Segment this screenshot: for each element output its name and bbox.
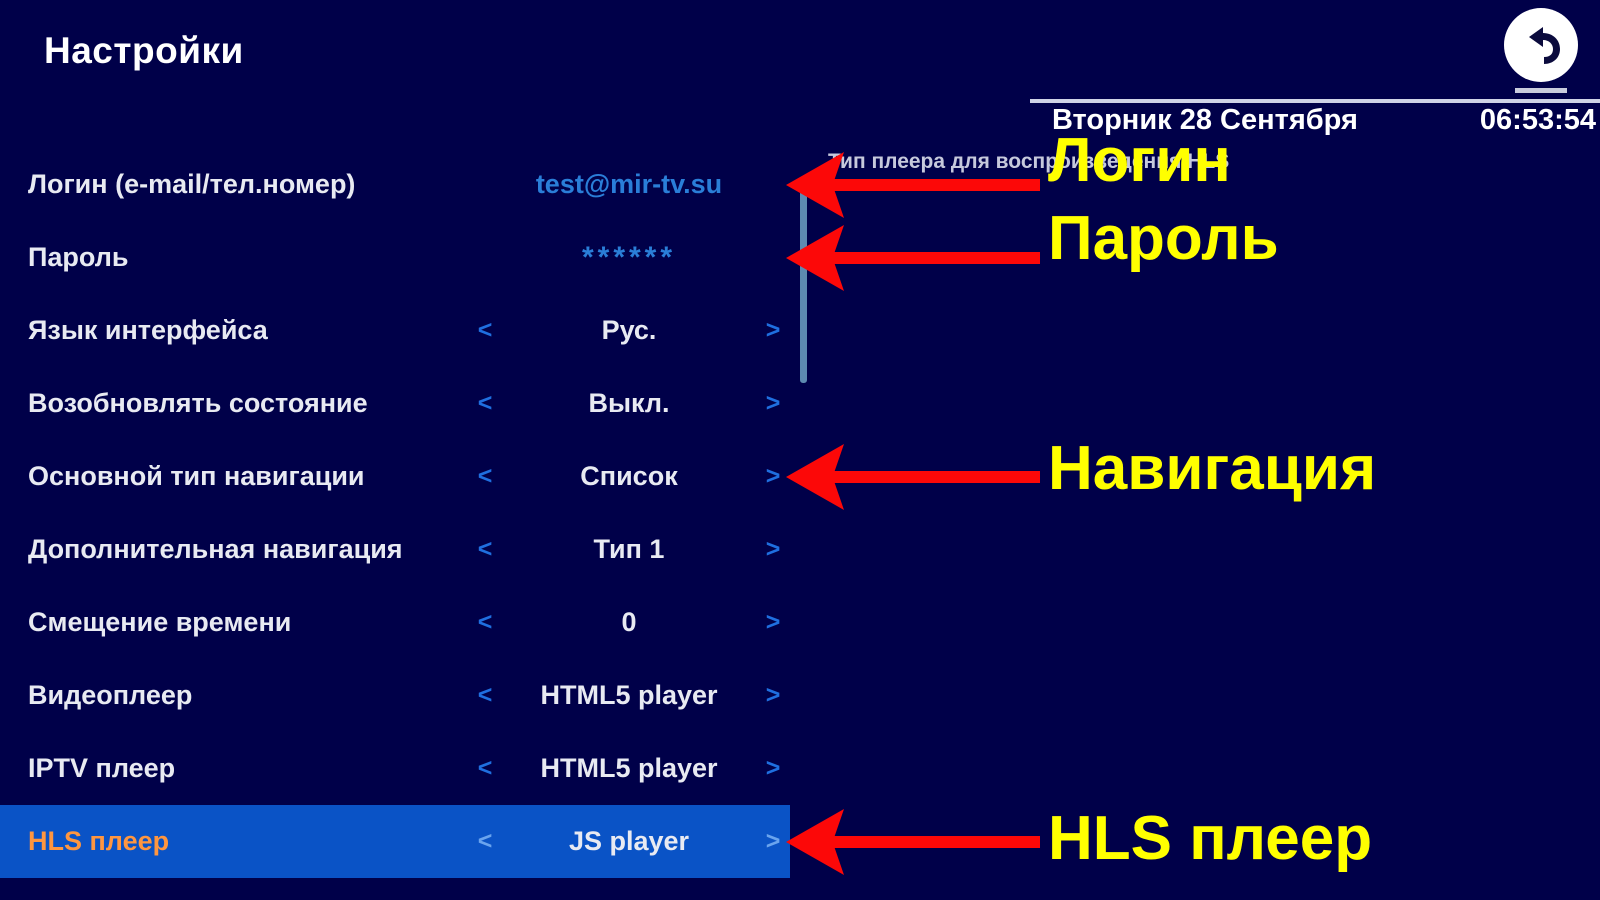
annotation-label: Навигация <box>1048 438 1376 500</box>
setting-label: Пароль <box>28 242 468 273</box>
chevron-right-icon[interactable]: > <box>756 683 790 708</box>
setting-row[interactable]: Основной тип навигации<Список> <box>0 440 790 513</box>
chevron-left-icon[interactable]: < <box>468 318 502 343</box>
chevron-left-icon[interactable]: < <box>468 391 502 416</box>
setting-row[interactable]: Язык интерфейса<Рус.> <box>0 294 790 367</box>
annotation-label: Пароль <box>1048 208 1279 270</box>
setting-value[interactable]: Выкл. <box>502 388 756 419</box>
chevron-right-icon[interactable]: > <box>756 391 790 416</box>
setting-value[interactable]: JS player <box>502 826 756 857</box>
settings-screen: Настройки Вторник 28 Сентября 06:53:54 Т… <box>0 0 1600 900</box>
setting-row[interactable]: Пароль****** <box>0 221 790 294</box>
setting-row[interactable]: Логин (e-mail/тел.номер)test@mir-tv.su <box>0 148 790 221</box>
setting-label: HLS плеер <box>28 826 468 857</box>
settings-list: Логин (e-mail/тел.номер)test@mir-tv.suПа… <box>0 148 790 878</box>
setting-label: Видеоплеер <box>28 680 468 711</box>
setting-label: Дополнительная навигация <box>28 534 468 565</box>
setting-row[interactable]: Дополнительная навигация<Тип 1> <box>0 513 790 586</box>
setting-row[interactable]: Видеоплеер<HTML5 player> <box>0 659 790 732</box>
setting-value[interactable]: Список <box>502 461 756 492</box>
setting-value[interactable]: Рус. <box>502 315 756 346</box>
focus-indicator <box>1515 88 1567 93</box>
setting-value[interactable]: HTML5 player <box>502 680 756 711</box>
setting-value[interactable]: test@mir-tv.su <box>502 169 756 200</box>
setting-value[interactable]: Тип 1 <box>502 534 756 565</box>
setting-label: Логин (e-mail/тел.номер) <box>28 169 468 200</box>
setting-value[interactable]: 0 <box>502 607 756 638</box>
chevron-right-icon[interactable]: > <box>756 537 790 562</box>
setting-row[interactable]: HLS плеер<JS player> <box>0 805 790 878</box>
chevron-right-icon[interactable]: > <box>756 318 790 343</box>
chevron-left-icon[interactable]: < <box>468 610 502 635</box>
annotation-label: Логин <box>1048 130 1231 192</box>
setting-label: Возобновлять состояние <box>28 388 468 419</box>
setting-row[interactable]: Возобновлять состояние<Выкл.> <box>0 367 790 440</box>
chevron-right-icon[interactable]: > <box>756 756 790 781</box>
chevron-right-icon[interactable]: > <box>756 610 790 635</box>
chevron-right-icon[interactable]: > <box>756 464 790 489</box>
setting-row[interactable]: Смещение времени<0> <box>0 586 790 659</box>
setting-row[interactable]: IPTV плеер<HTML5 player> <box>0 732 790 805</box>
setting-value[interactable]: HTML5 player <box>502 753 756 784</box>
setting-value[interactable]: ****** <box>502 241 756 275</box>
setting-label: IPTV плеер <box>28 753 468 784</box>
chevron-left-icon[interactable]: < <box>468 756 502 781</box>
time-label: 06:53:54 <box>1480 104 1600 137</box>
header-divider <box>1030 99 1600 103</box>
chevron-right-icon[interactable]: > <box>756 829 790 854</box>
chevron-left-icon[interactable]: < <box>468 829 502 854</box>
page-title: Настройки <box>44 30 244 72</box>
chevron-left-icon[interactable]: < <box>468 464 502 489</box>
annotation-label: HLS плеер <box>1048 808 1372 870</box>
undo-back-icon <box>1513 17 1569 73</box>
chevron-left-icon[interactable]: < <box>468 683 502 708</box>
setting-label: Основной тип навигации <box>28 461 468 492</box>
back-button[interactable] <box>1504 8 1578 82</box>
setting-label: Язык интерфейса <box>28 315 468 346</box>
chevron-left-icon[interactable]: < <box>468 537 502 562</box>
setting-label: Смещение времени <box>28 607 468 638</box>
